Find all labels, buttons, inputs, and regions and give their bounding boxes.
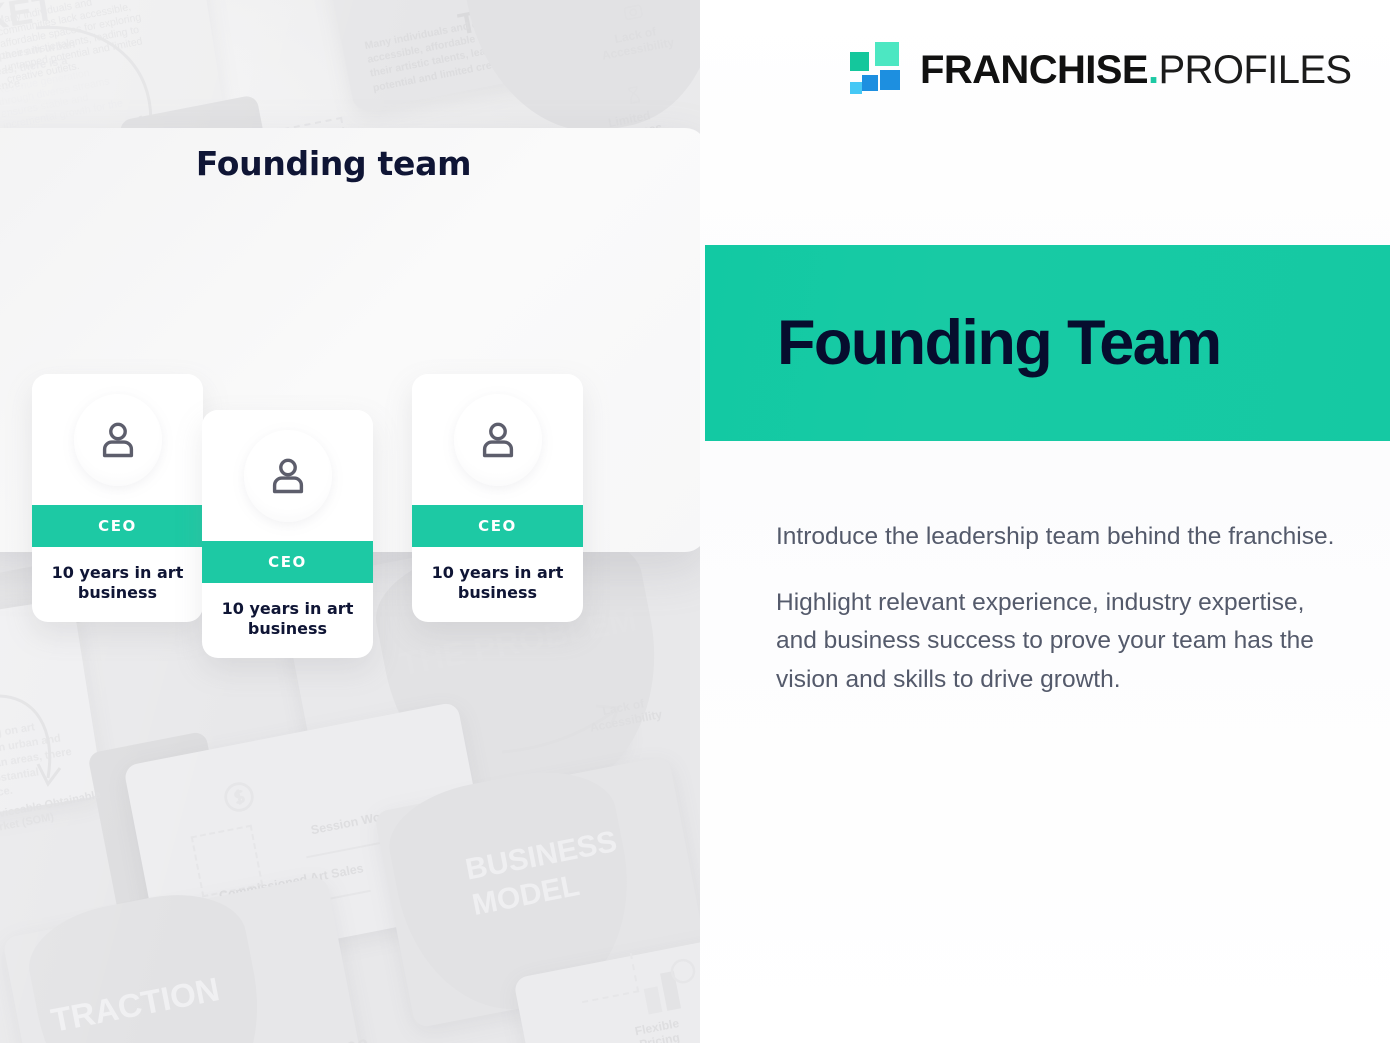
deck-arrow-icon [0, 690, 80, 800]
chart-icon [635, 953, 700, 1023]
person-icon [96, 418, 140, 462]
camera-icon [620, 0, 646, 24]
logo-word-profiles: PROFILES [1158, 48, 1351, 92]
page-title: Founding Team [777, 312, 1221, 375]
team-member-card[interactable]: CEO 10 years in art business [412, 374, 583, 622]
money-icon [219, 777, 259, 817]
logo-square-teal [850, 52, 869, 71]
avatar [412, 374, 583, 505]
person-icon [476, 418, 520, 462]
avatar [202, 410, 373, 541]
role-badge: CEO [32, 505, 203, 547]
logo-square-light-blue [850, 82, 862, 94]
description-text: Introduce the leadership team behind the… [776, 518, 1346, 699]
avatar-ring [454, 394, 542, 486]
role-badge: CEO [202, 541, 373, 583]
team-member-card[interactable]: CEO 10 years in art business [32, 374, 203, 622]
section-banner: Founding Team [705, 245, 1390, 441]
avatar-ring [244, 430, 332, 522]
logo-square-mint [875, 42, 899, 66]
role-badge: CEO [412, 505, 583, 547]
avatar-ring [74, 394, 162, 486]
team-cards-container: CEO 10 years in art business CEO 10 year… [0, 128, 667, 552]
logo-word-franchise: FRANCHISE [920, 48, 1148, 92]
brand-logo: FRANCHISE.PROFILES [850, 42, 1352, 98]
avatar [32, 374, 203, 505]
right-content-pane: FRANCHISE.PROFILES Founding Team Introdu… [700, 0, 1390, 1043]
hourglass-icon [622, 82, 646, 107]
logo-dot: . [1148, 48, 1159, 92]
description-paragraph-2: Highlight relevant experience, industry … [776, 584, 1346, 699]
founding-team-preview-panel: Founding team CEO 10 years in art busine… [0, 128, 707, 552]
member-description: 10 years in art business [202, 583, 373, 658]
logo-square-blue-small [862, 75, 878, 91]
logo-square-blue-large [880, 70, 900, 90]
logo-squares-icon [850, 42, 902, 98]
member-description: 10 years in art business [32, 547, 203, 622]
team-member-card[interactable]: CEO 10 years in art business [202, 410, 373, 658]
description-paragraph-1: Introduce the leadership team behind the… [776, 518, 1346, 556]
logo-wordmark: FRANCHISE.PROFILES [920, 50, 1352, 90]
person-icon [266, 454, 310, 498]
slide-canvas: TARGET MARKET Focusing on art spaces in … [0, 0, 1390, 1043]
member-description: 10 years in art business [412, 547, 583, 622]
